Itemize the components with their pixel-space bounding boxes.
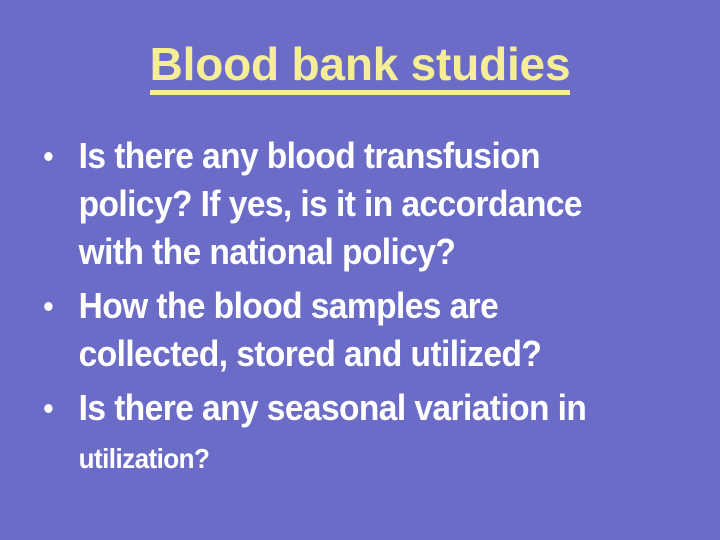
page-title: Blood bank studies	[150, 40, 571, 95]
list-item-text: How the blood samples are collected, sto…	[79, 282, 648, 378]
bullet-dot-icon	[44, 152, 52, 161]
list-item-text: Is there any blood transfusion policy? I…	[79, 132, 648, 276]
list-item-text-tail: utilization?	[79, 443, 210, 474]
presentation-slide: Blood bank studies Is there any blood tr…	[0, 0, 720, 540]
list-item-text: Is there any seasonal variation in utili…	[79, 384, 648, 483]
bullet-dot-icon	[44, 302, 52, 311]
list-item: How the blood samples are collected, sto…	[34, 282, 648, 378]
bullet-list: Is there any blood transfusion policy? I…	[34, 132, 694, 489]
bullet-dot-icon	[44, 404, 52, 413]
list-item: Is there any seasonal variation in utili…	[34, 384, 648, 483]
list-item-text-main: Is there any seasonal variation in	[79, 387, 587, 428]
list-item: Is there any blood transfusion policy? I…	[34, 132, 648, 276]
slide-title-container: Blood bank studies	[0, 40, 720, 95]
